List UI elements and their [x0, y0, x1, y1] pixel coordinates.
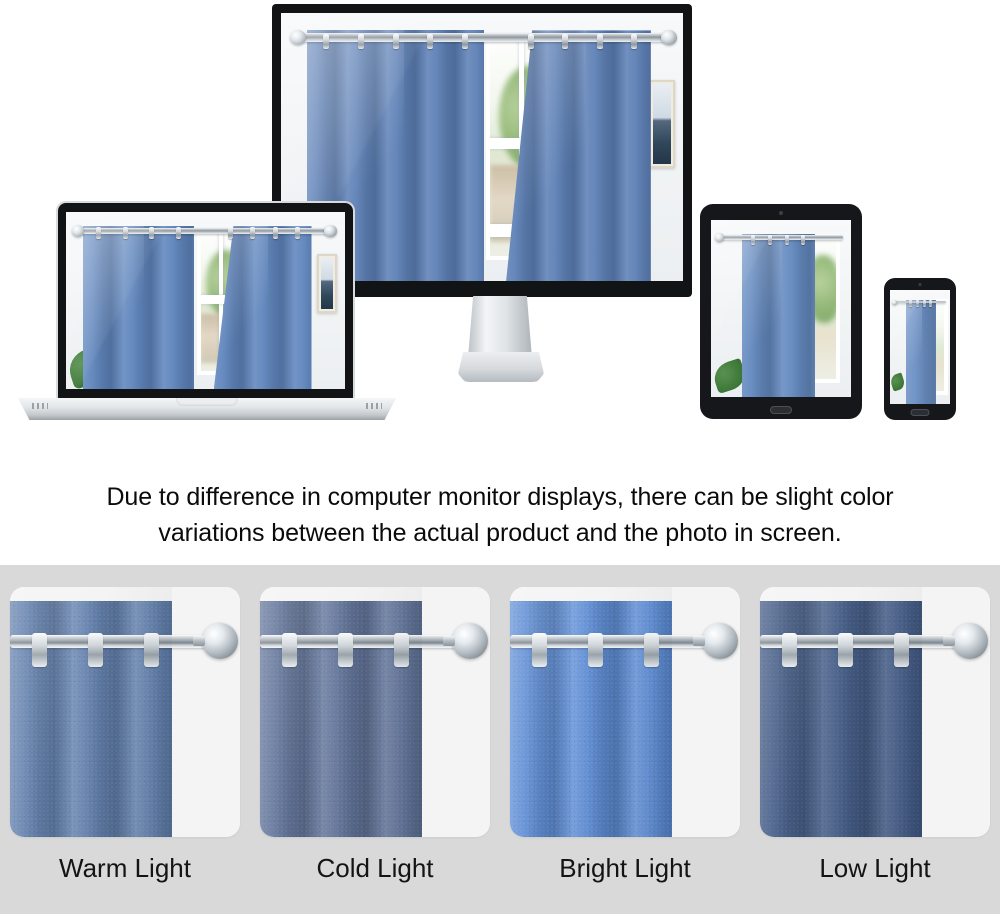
grommet: [631, 34, 637, 49]
laptop-lid: [58, 203, 353, 399]
laptop-speaker-vent-left: [32, 403, 48, 409]
grommet: [916, 300, 919, 307]
grommet-row-right: [514, 33, 651, 49]
tablet-bezel: [700, 204, 862, 419]
disclaimer-line-2: variations between the actual product an…: [158, 515, 841, 551]
curtain-scalloped-top: [760, 587, 922, 605]
color-variation-disclaimer: Due to difference in computer monitor di…: [0, 465, 1000, 565]
lighting-label: Warm Light: [59, 853, 191, 883]
grommet: [176, 227, 181, 239]
grommet: [838, 633, 853, 667]
curtain-scene-laptop: [66, 212, 345, 389]
grommet: [32, 633, 47, 667]
grommet-row: [907, 301, 935, 306]
lighting-sample-bright: Bright Light: [500, 565, 750, 914]
curtain-scalloped-top: [510, 587, 672, 605]
grommet: [250, 227, 255, 239]
grommet: [338, 633, 353, 667]
grommet: [295, 227, 300, 239]
sample-card: [510, 587, 740, 837]
grommet: [923, 300, 926, 307]
phone-bezel: [884, 278, 956, 420]
sample-card: [10, 587, 240, 837]
laptop-trackpad-notch: [176, 398, 238, 406]
grommet: [929, 300, 932, 307]
grommet: [597, 34, 603, 49]
grommet: [123, 227, 128, 239]
seascape-print: [653, 84, 671, 164]
curtain-panel: [742, 234, 815, 397]
grommet: [909, 300, 912, 307]
device-showcase: [0, 0, 1000, 465]
grommet: [751, 235, 755, 245]
grommet: [785, 235, 789, 245]
grommet: [394, 633, 409, 667]
laptop-base: [14, 398, 400, 420]
rod-finial: [952, 623, 988, 659]
grommet: [96, 227, 101, 239]
tablet-camera-icon: [779, 211, 783, 215]
phone-camera-icon: [919, 283, 922, 286]
grommet: [358, 34, 364, 49]
grommet: [427, 34, 433, 49]
smartphone: [884, 278, 956, 420]
grommet: [144, 633, 159, 667]
grommet: [782, 633, 797, 667]
grommet: [528, 34, 534, 49]
grommet: [149, 227, 154, 239]
grommet: [393, 34, 399, 49]
grommet-row-left: [309, 33, 482, 49]
grommet: [273, 227, 278, 239]
grommet: [801, 235, 805, 245]
grommet: [323, 34, 329, 49]
framed-art: [649, 80, 675, 168]
grommet-row: [745, 235, 812, 244]
rod-finial: [702, 623, 738, 659]
grommet: [462, 34, 468, 49]
sample-card: [260, 587, 490, 837]
rod-finial: [452, 623, 488, 659]
laptop-screen: [66, 212, 345, 389]
lighting-sample-grid: Warm Light Cold Light: [0, 565, 1000, 914]
fabric-sheen: [906, 300, 923, 404]
monitor-stand-neck: [468, 296, 532, 358]
laptop: [58, 203, 353, 399]
lighting-label: Bright Light: [559, 853, 691, 883]
lighting-sample-low: Low Light: [750, 565, 1000, 914]
rod-finial-left: [715, 233, 723, 242]
curtain-fabric: [906, 300, 936, 404]
lighting-comparison-section: Warm Light Cold Light: [0, 565, 1000, 914]
curtain-fabric: [83, 226, 195, 389]
grommet: [228, 227, 233, 239]
grommet-row-right: [219, 228, 308, 239]
grommet: [88, 633, 103, 667]
lighting-label: Low Light: [819, 853, 930, 883]
grommet: [532, 633, 547, 667]
disclaimer-line-1: Due to difference in computer monitor di…: [106, 479, 893, 515]
rod-finial-right: [661, 30, 677, 46]
rod-finial: [202, 623, 238, 659]
grommet: [894, 633, 909, 667]
rod-finial-left: [892, 300, 896, 305]
grommet: [768, 235, 772, 245]
fabric-sheen: [83, 226, 144, 389]
framed-art: [317, 254, 337, 312]
grommet: [588, 633, 603, 667]
sample-card: [760, 587, 990, 837]
curtain-scene-tablet: [711, 220, 851, 397]
tablet: [700, 204, 862, 419]
rod-finial-right: [324, 225, 337, 236]
phone-screen: [890, 290, 950, 404]
grommet: [562, 34, 568, 49]
curtain-panel: [906, 300, 936, 404]
lighting-sample-cold: Cold Light: [250, 565, 500, 914]
curtain-scalloped-top: [10, 587, 172, 605]
curtain-scene-phone: [890, 290, 950, 404]
grommet: [282, 633, 297, 667]
fabric-sheen: [742, 234, 782, 397]
curtain-scalloped-top: [260, 587, 422, 605]
phone-home-button[interactable]: [911, 409, 930, 416]
monitor-stand-foot: [458, 352, 544, 382]
lighting-sample-warm: Warm Light: [0, 565, 250, 914]
rod-finial-left: [72, 225, 85, 236]
rod-finial-left: [290, 30, 306, 46]
grommet: [644, 633, 659, 667]
curtain-panel-left: [83, 226, 195, 389]
laptop-speaker-vent-right: [366, 403, 382, 409]
grommet-row-left: [86, 228, 192, 239]
lighting-label: Cold Light: [316, 853, 433, 883]
tablet-home-button[interactable]: [770, 406, 792, 414]
curtain-fabric: [742, 234, 815, 397]
seascape-print: [321, 258, 333, 308]
tablet-screen: [711, 220, 851, 397]
